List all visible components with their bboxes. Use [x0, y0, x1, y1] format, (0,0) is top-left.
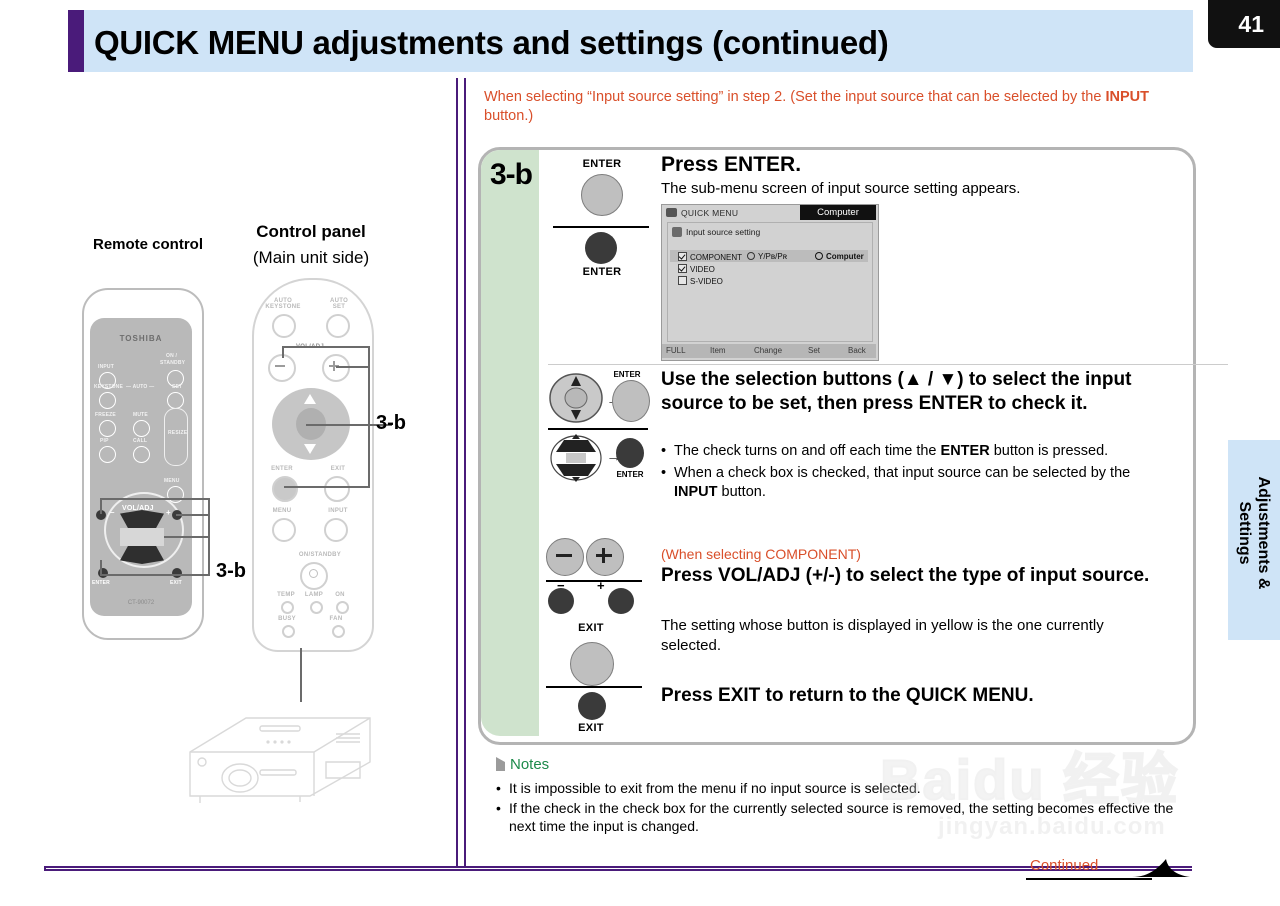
- plus-icon-v: [602, 548, 605, 563]
- checkbox-svideo-icon[interactable]: [678, 276, 687, 285]
- osd-footer-change: Change: [754, 344, 782, 358]
- remote-callout-line-4: [176, 514, 210, 516]
- step3-exit-caption: EXIT: [566, 622, 616, 634]
- cp-dpad-down-icon: [304, 444, 316, 454]
- step1-enter-caption-bottom: ENTER: [566, 266, 638, 278]
- note-item-1: It is impossible to exit from the menu i…: [496, 779, 1186, 798]
- step2-divider: [548, 364, 1228, 365]
- header-accent-bar: [68, 10, 84, 72]
- step2-bullet-2c: button.: [718, 484, 766, 500]
- remote-down-button[interactable]: [120, 546, 164, 564]
- side-tab-label: Adjustments &Settings: [1235, 433, 1273, 633]
- osd-section-title: Input source setting: [686, 227, 760, 237]
- bottom-rule-cap: [44, 866, 46, 871]
- cp-auto-keystone-button[interactable]: [272, 314, 296, 338]
- step2-enter-button-panel[interactable]: [612, 380, 650, 422]
- osd-row-component-label: COMPONENT: [690, 253, 742, 262]
- step2-bullet-2b: INPUT: [674, 484, 718, 500]
- step3-exit-button-panel[interactable]: [570, 642, 614, 686]
- cp-vol-plus-glyph-v: [333, 361, 335, 371]
- cp-auto-keystone-label: AUTOKEYSTONE: [260, 298, 306, 310]
- step3-vol-plus-panel[interactable]: [586, 538, 624, 576]
- osd-row-svideo-label: S-VIDEO: [690, 277, 723, 286]
- intro-text: When selecting “Input source setting” in…: [484, 88, 1184, 126]
- remote-call-label: CALL: [133, 438, 147, 444]
- remote-mute-button[interactable]: [133, 420, 150, 437]
- cp-on-indicator: [336, 601, 349, 614]
- step4-separator: [546, 686, 642, 688]
- remote-mute-label: MUTE: [133, 412, 148, 418]
- remote-callout-line-2: [100, 498, 102, 514]
- remote-callout-line-5: [164, 536, 210, 538]
- step3-heading: Press VOL/ADJ (+/-) to select the type o…: [661, 564, 1173, 588]
- minus-icon: [556, 554, 572, 557]
- remote-pip-button[interactable]: [99, 446, 116, 463]
- step2-bullet-2: When a check box is checked, that input …: [661, 464, 1169, 502]
- step1-heading: Press ENTER.: [661, 153, 1181, 177]
- osd-footer-full: FULL: [666, 344, 686, 358]
- callout-label-panel-3b: 3-b: [376, 412, 406, 435]
- checkbox-video-icon[interactable]: [678, 264, 687, 273]
- control-panel-label: Control panel: [236, 222, 386, 242]
- remote-freeze-button[interactable]: [99, 420, 116, 437]
- cp-auto-set-button[interactable]: [326, 314, 350, 338]
- continued-label: Continued: [1030, 857, 1098, 874]
- remote-set-button[interactable]: [167, 392, 184, 409]
- bottom-rule: [44, 866, 1192, 871]
- remote-keystone-button[interactable]: [99, 392, 116, 409]
- cp-fan-label: FAN: [322, 616, 350, 622]
- step-band: [481, 150, 539, 736]
- step2-bullet-1a: The check turns on and off each time the: [674, 443, 941, 459]
- cp-onstandby-label: ON/STANDBY: [290, 552, 350, 558]
- remote-auto-label: — AUTO —: [126, 384, 154, 390]
- intro-input-bold: INPUT: [1105, 89, 1149, 105]
- cp-input-label: INPUT: [318, 508, 358, 514]
- osd-footer-set: Set: [808, 344, 820, 358]
- step4-exit-button-remote[interactable]: [578, 692, 606, 720]
- cp-exit-button[interactable]: [324, 476, 350, 502]
- cp-callout-2: [282, 346, 370, 348]
- step1-separator: [553, 226, 649, 228]
- cp-lamp-indicator: [310, 601, 323, 614]
- cp-on-label: ON: [330, 592, 350, 598]
- remote-control-label: Remote control: [78, 236, 218, 253]
- cp-dpad-up-icon: [304, 394, 316, 404]
- cp-vol-minus-glyph: [275, 365, 285, 367]
- step1-enter-button-remote[interactable]: [585, 232, 617, 264]
- cp-fan-indicator: [332, 625, 345, 638]
- remote-enter-label: ENTER: [92, 580, 110, 586]
- osd-row-video-label: VIDEO: [690, 265, 715, 274]
- intro-part-1: When selecting “Input source setting” in…: [484, 89, 1105, 105]
- checkbox-component-icon[interactable]: [678, 252, 687, 261]
- cp-callout-6: [284, 486, 370, 488]
- step2-bullet-2a: When a check box is checked, that input …: [674, 465, 1130, 481]
- cp-enter-label: ENTER: [262, 466, 302, 472]
- cp-auto-set-label: AUTOSET: [316, 298, 362, 310]
- page-title: QUICK MENU adjustments and settings (con…: [94, 20, 1184, 66]
- step3-note: (When selecting COMPONENT): [661, 546, 1161, 562]
- intro-part-2: button.): [484, 108, 533, 124]
- radio-computer-icon[interactable]: [815, 252, 823, 260]
- step2-bullet-1: The check turns on and off each time the…: [661, 442, 1169, 461]
- remote-brand-label: TOSHIBA: [90, 334, 192, 343]
- cp-menu-button[interactable]: [272, 518, 296, 542]
- remote-freeze-label: FREEZE: [95, 412, 116, 418]
- osd-row-video[interactable]: VIDEO: [678, 264, 715, 274]
- cp-temp-label: TEMP: [272, 592, 300, 598]
- remote-dpad-icon[interactable]: [548, 434, 606, 482]
- osd-option-computer[interactable]: Computer: [815, 252, 864, 261]
- remote-call-button[interactable]: [133, 446, 150, 463]
- step2-heading: Use the selection buttons (▲ / ▼) to sel…: [661, 368, 1169, 416]
- remote-pip-label: PIP: [100, 438, 109, 444]
- dpad-icon[interactable]: [548, 372, 606, 424]
- cp-exit-label: EXIT: [318, 466, 358, 472]
- remote-model-label: CT-90072: [90, 600, 192, 606]
- cp-busy-label: BUSY: [272, 616, 302, 622]
- cp-menu-label: MENU: [262, 508, 302, 514]
- remote-onstandby-label2: STANDBY: [160, 360, 185, 366]
- callout-label-remote-3b: 3-b: [216, 560, 246, 583]
- osd-source-badge: Computer: [800, 205, 876, 220]
- osd-menu-icon: [666, 208, 677, 217]
- cp-vol-plus-button[interactable]: [322, 354, 350, 382]
- step2-separator: [548, 428, 648, 430]
- step4-exit-caption: EXIT: [566, 722, 616, 734]
- step3-plus-label: +: [592, 578, 610, 593]
- remote-vol-minus-label: –: [110, 508, 115, 517]
- step1-body: The sub-menu screen of input source sett…: [661, 179, 1181, 199]
- osd-row-svideo[interactable]: S-VIDEO: [678, 276, 723, 286]
- power-icon: [309, 569, 318, 578]
- page-number: 41: [1220, 8, 1264, 40]
- cp-vol-minus-button[interactable]: [268, 354, 296, 382]
- remote-callout-line-6: [100, 574, 210, 576]
- step1-enter-caption-top: ENTER: [566, 158, 638, 170]
- cp-callout-4: [336, 366, 370, 368]
- notes-title: Notes: [510, 756, 549, 773]
- step4-heading: Press EXIT to return to the QUICK MENU.: [661, 684, 1173, 708]
- step3-vol-minus-remote[interactable]: [548, 588, 574, 614]
- osd-footer-back: Back: [848, 344, 866, 358]
- remote-keystone-label: KEYSTONE: [94, 384, 123, 390]
- remote-vol-plus-label: +: [166, 508, 171, 517]
- step3-vol-plus-remote[interactable]: [608, 588, 634, 614]
- osd-section-icon: [672, 227, 682, 237]
- notes-list: It is impossible to exit from the menu i…: [496, 779, 1186, 837]
- step2-bullets: The check turns on and off each time the…: [661, 442, 1169, 505]
- cp-temp-indicator: [281, 601, 294, 614]
- osd-option-computer-label: Computer: [826, 252, 864, 261]
- cp-stem-line: [300, 648, 302, 702]
- notes-marker-icon: [496, 757, 505, 771]
- osd-footer-bar: FULL Item Change Set Back: [662, 344, 876, 358]
- step1-enter-button-panel[interactable]: [581, 174, 623, 216]
- column-divider: [456, 78, 468, 868]
- projector-illustration: [160, 700, 400, 810]
- osd-title-text: QUICK MENU: [681, 208, 738, 218]
- step2-enter-button-remote[interactable]: [616, 438, 644, 468]
- remote-callout-line-1: [100, 498, 210, 500]
- remote-onstandby-label: ON /: [166, 353, 177, 359]
- osd-option-ypbpr[interactable]: Y/Pʙ/Pʀ: [747, 252, 787, 261]
- remote-set-label: SET: [172, 384, 182, 390]
- cp-enter-button[interactable]: [272, 476, 298, 502]
- osd-option-ypbpr-label: Y/Pʙ/Pʀ: [758, 252, 787, 261]
- step2-enter-caption-top: ENTER: [600, 370, 654, 379]
- remote-callout-line-7: [100, 560, 102, 576]
- cp-lamp-label: LAMP: [300, 592, 328, 598]
- cp-busy-indicator: [282, 625, 295, 638]
- remote-exit-label: EXIT: [170, 580, 182, 586]
- step3-body: The setting whose button is displayed in…: [661, 616, 1161, 656]
- step2-bullet-1c: button is pressed.: [990, 443, 1109, 459]
- step2-bullet-1b: ENTER: [941, 443, 990, 459]
- remote-up-button[interactable]: [120, 510, 164, 528]
- continued-arrow-icon: [1132, 855, 1192, 883]
- remote-exit-button[interactable]: [172, 568, 182, 578]
- remote-resize-button[interactable]: [164, 408, 188, 466]
- radio-ypbpr-icon[interactable]: [747, 252, 755, 260]
- osd-row-component[interactable]: COMPONENT: [678, 252, 742, 262]
- step3-vol-minus-panel[interactable]: [546, 538, 584, 576]
- remote-enter-center[interactable]: [120, 528, 164, 546]
- side-tab-adjustments-settings: Adjustments &Settings: [1228, 440, 1280, 640]
- remote-input-label: INPUT: [98, 364, 114, 370]
- control-panel-sublabel: (Main unit side): [236, 248, 386, 268]
- step2-enter-caption-bottom: ENTER: [600, 470, 660, 479]
- remote-menu-label: MENU: [164, 478, 180, 484]
- step-label-3b: 3-b: [484, 158, 538, 192]
- osd-footer-item: Item: [710, 344, 726, 358]
- cp-input-button[interactable]: [324, 518, 348, 542]
- note-item-2: If the check in the check box for the cu…: [496, 799, 1186, 836]
